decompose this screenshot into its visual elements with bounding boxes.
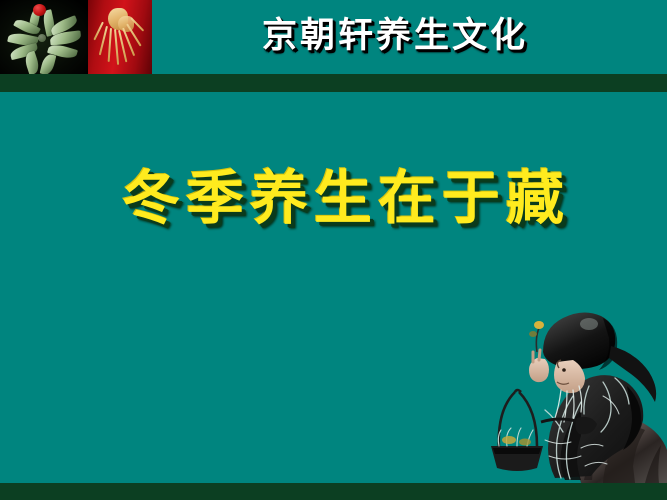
ginseng-berry-icon xyxy=(33,4,46,16)
elder-herb-gatherer-illustration xyxy=(485,290,667,483)
ink-painting-svg xyxy=(485,290,667,483)
ginseng-berry-secondary-icon xyxy=(38,34,46,42)
presentation-slide: 京朝轩养生文化 冬季养生在于藏 xyxy=(0,0,667,500)
banner-title: 京朝轩养生文化 xyxy=(262,8,562,66)
herb-sprig-icon xyxy=(529,321,544,352)
ginseng-plant-photo-panel xyxy=(0,0,88,74)
slide-main-title: 冬季养生在于藏 xyxy=(122,160,562,238)
ginseng-root-photo-panel xyxy=(88,0,152,74)
ginseng-logo-image xyxy=(0,0,152,74)
herb-basket-icon xyxy=(491,390,543,471)
footer-divider-bar xyxy=(0,483,667,500)
header-divider-bar xyxy=(0,74,667,92)
